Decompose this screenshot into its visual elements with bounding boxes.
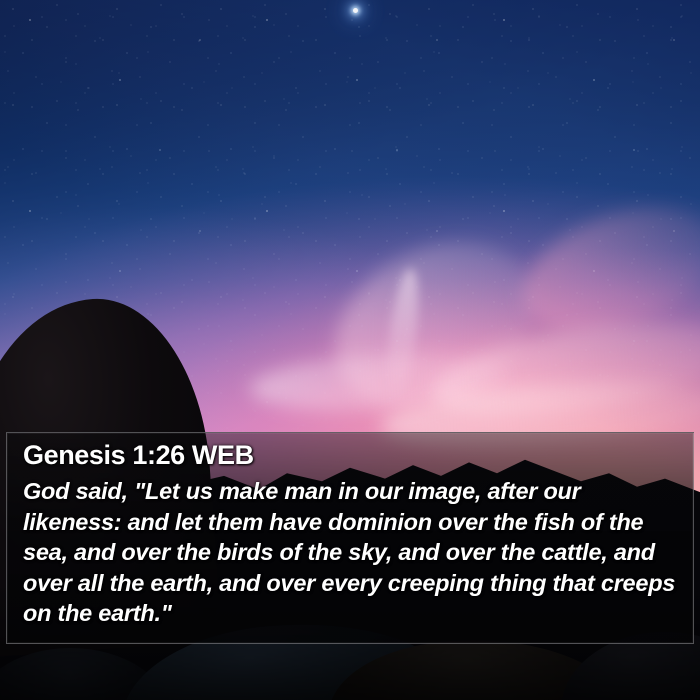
verse-text: God said, "Let us make man in our image,… xyxy=(23,476,677,629)
bright-star-icon xyxy=(353,8,358,13)
verse-reference: Genesis 1:26 WEB xyxy=(23,441,677,470)
verse-overlay-panel: Genesis 1:26 WEB God said, "Let us make … xyxy=(6,432,694,644)
verse-image-canvas: Genesis 1:26 WEB God said, "Let us make … xyxy=(0,0,700,700)
